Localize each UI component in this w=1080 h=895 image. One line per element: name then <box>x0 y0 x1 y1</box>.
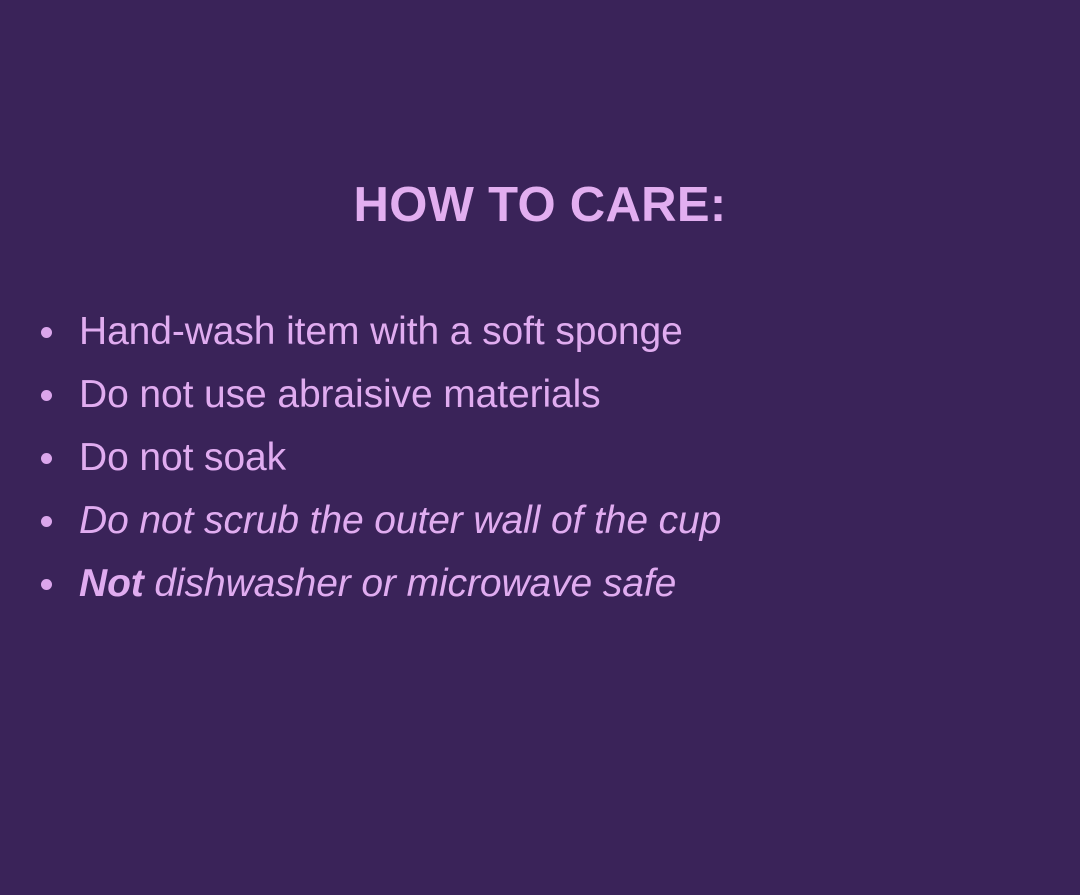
bullet-dot-icon <box>41 453 52 464</box>
list-item: Not dishwasher or microwave safe <box>38 555 1038 618</box>
list-item-label: Hand-wash item with a soft sponge <box>79 303 683 361</box>
bullet-dot-icon <box>41 390 52 401</box>
list-item: Do not scrub the outer wall of the cup <box>38 492 1038 555</box>
list-item: Do not use abraisive materials <box>38 366 1038 429</box>
care-instructions-slide: HOW TO CARE: Hand-wash item with a soft … <box>0 0 1080 895</box>
list-item-label: Do not soak <box>79 429 286 487</box>
list-item-emphasis: Not <box>79 562 144 605</box>
list-item-label: Do not scrub the outer wall of the cup <box>79 492 721 550</box>
page-title: HOW TO CARE: <box>0 178 1080 233</box>
care-instruction-list: Hand-wash item with a soft sponge Do not… <box>38 303 1038 618</box>
bullet-dot-icon <box>41 579 52 590</box>
list-item: Do not soak <box>38 429 1038 492</box>
list-item: Hand-wash item with a soft sponge <box>38 303 1038 366</box>
bullet-dot-icon <box>41 327 52 338</box>
bullet-dot-icon <box>41 516 52 527</box>
list-item-label: Do not use abraisive materials <box>79 366 601 424</box>
list-item-rest: dishwasher or microwave safe <box>144 562 676 605</box>
list-item-label: Not dishwasher or microwave safe <box>79 555 676 613</box>
